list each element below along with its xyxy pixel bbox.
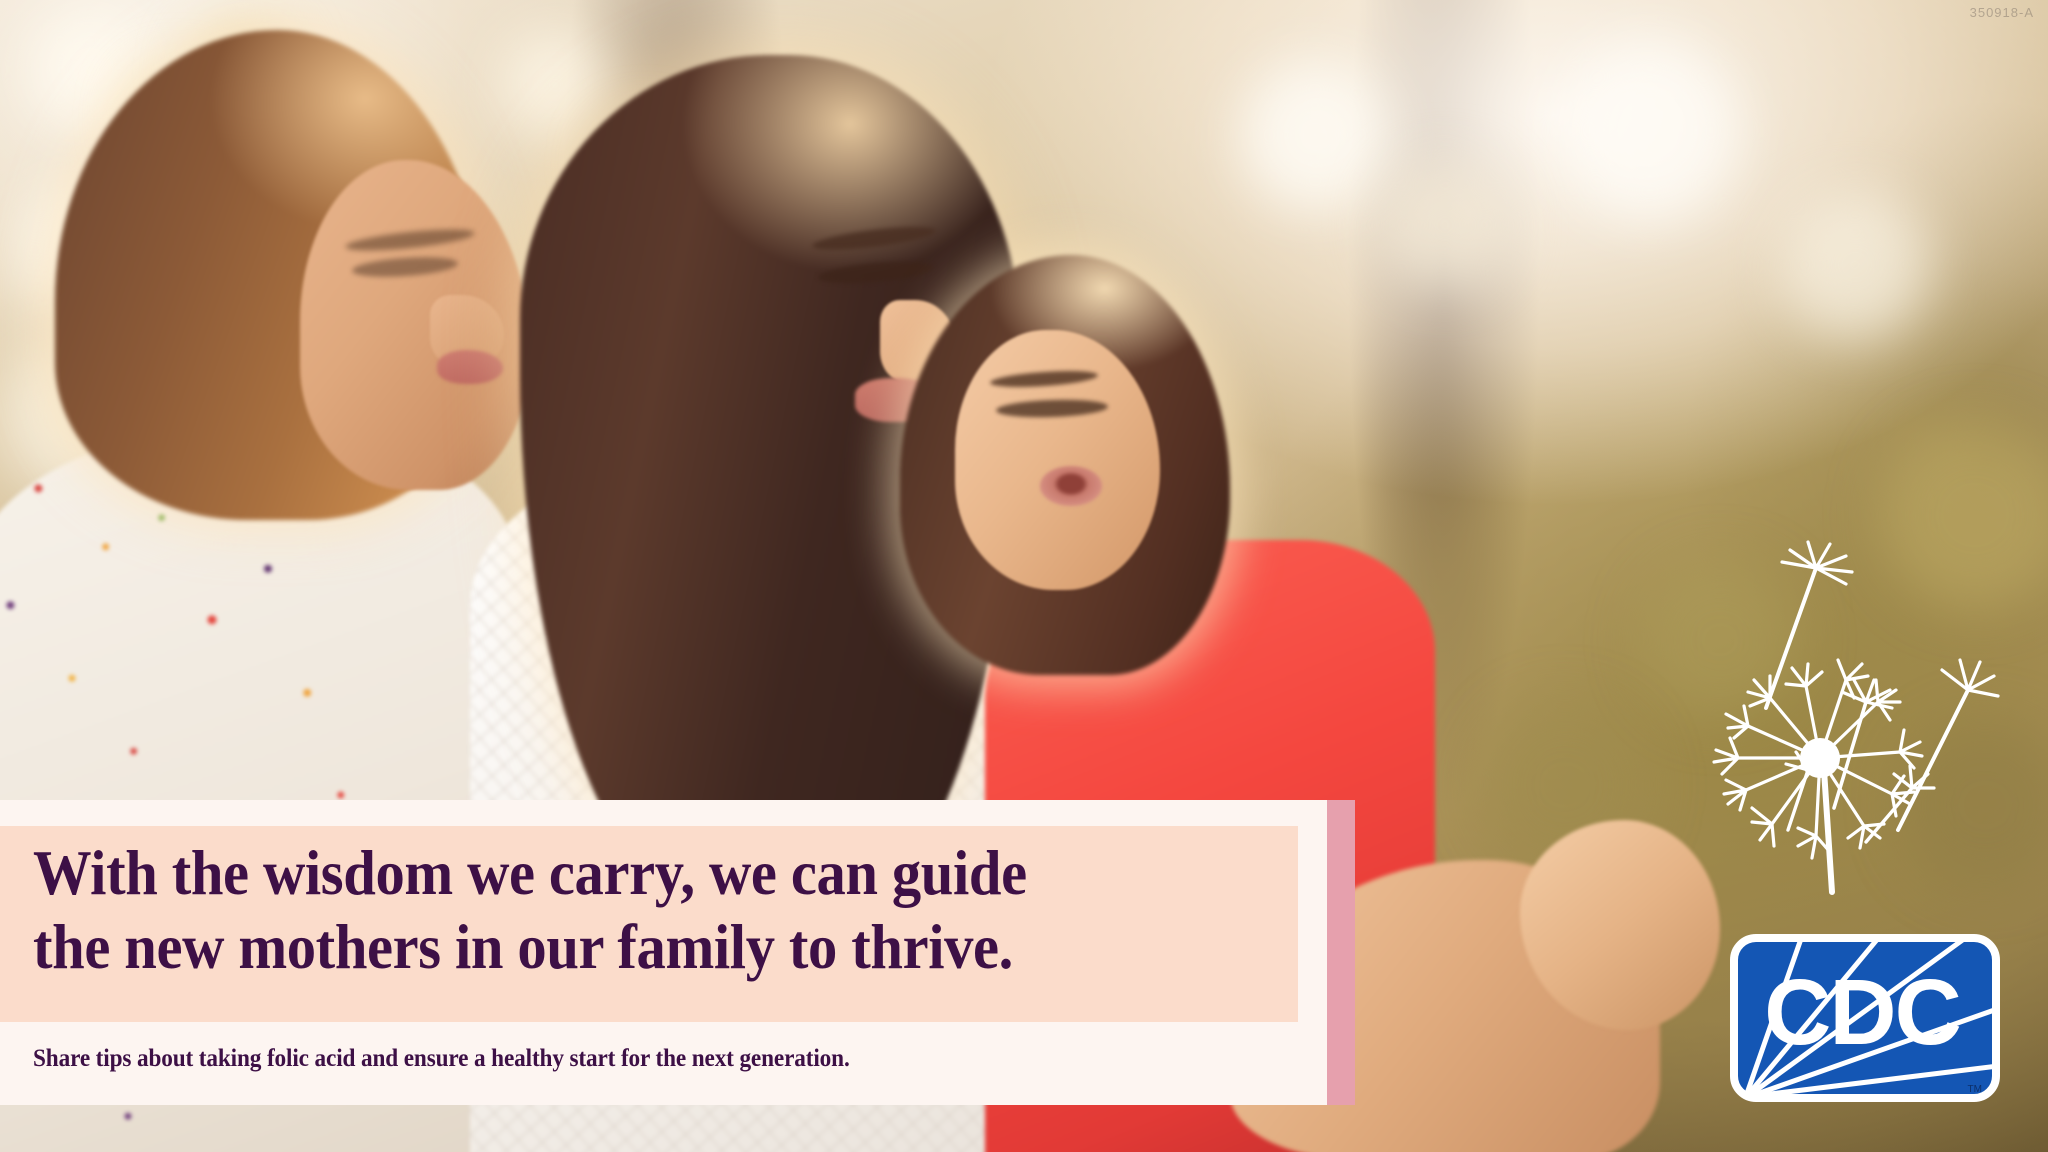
subhead-text: Share tips about taking folic acid and e…	[33, 1044, 1214, 1074]
cdc-trademark: TM	[1968, 1084, 1982, 1095]
cdc-logo-icon: CDC TM	[1730, 934, 2000, 1102]
bokeh-circle	[1380, 160, 1510, 290]
publication-code: 350918-A	[1970, 5, 2034, 20]
grandmother-lips	[437, 350, 503, 384]
bokeh-circle	[1780, 190, 1930, 340]
panel-accent-bar	[1327, 800, 1355, 1105]
bokeh-circle	[500, 30, 610, 140]
cdc-logo-text: CDC	[1764, 960, 1960, 1064]
headline-text: With the wisdom we carry, we can guide t…	[33, 836, 1196, 984]
bokeh-circle	[1560, 40, 1740, 220]
bokeh-circle	[1900, 720, 2048, 890]
child-lips	[1040, 466, 1102, 506]
bokeh-circle	[1240, 60, 1390, 210]
bokeh-circle	[1880, 420, 2048, 610]
campaign-poster: With the wisdom we carry, we can guide t…	[0, 0, 2048, 1152]
bokeh-circle	[1640, 560, 1800, 720]
